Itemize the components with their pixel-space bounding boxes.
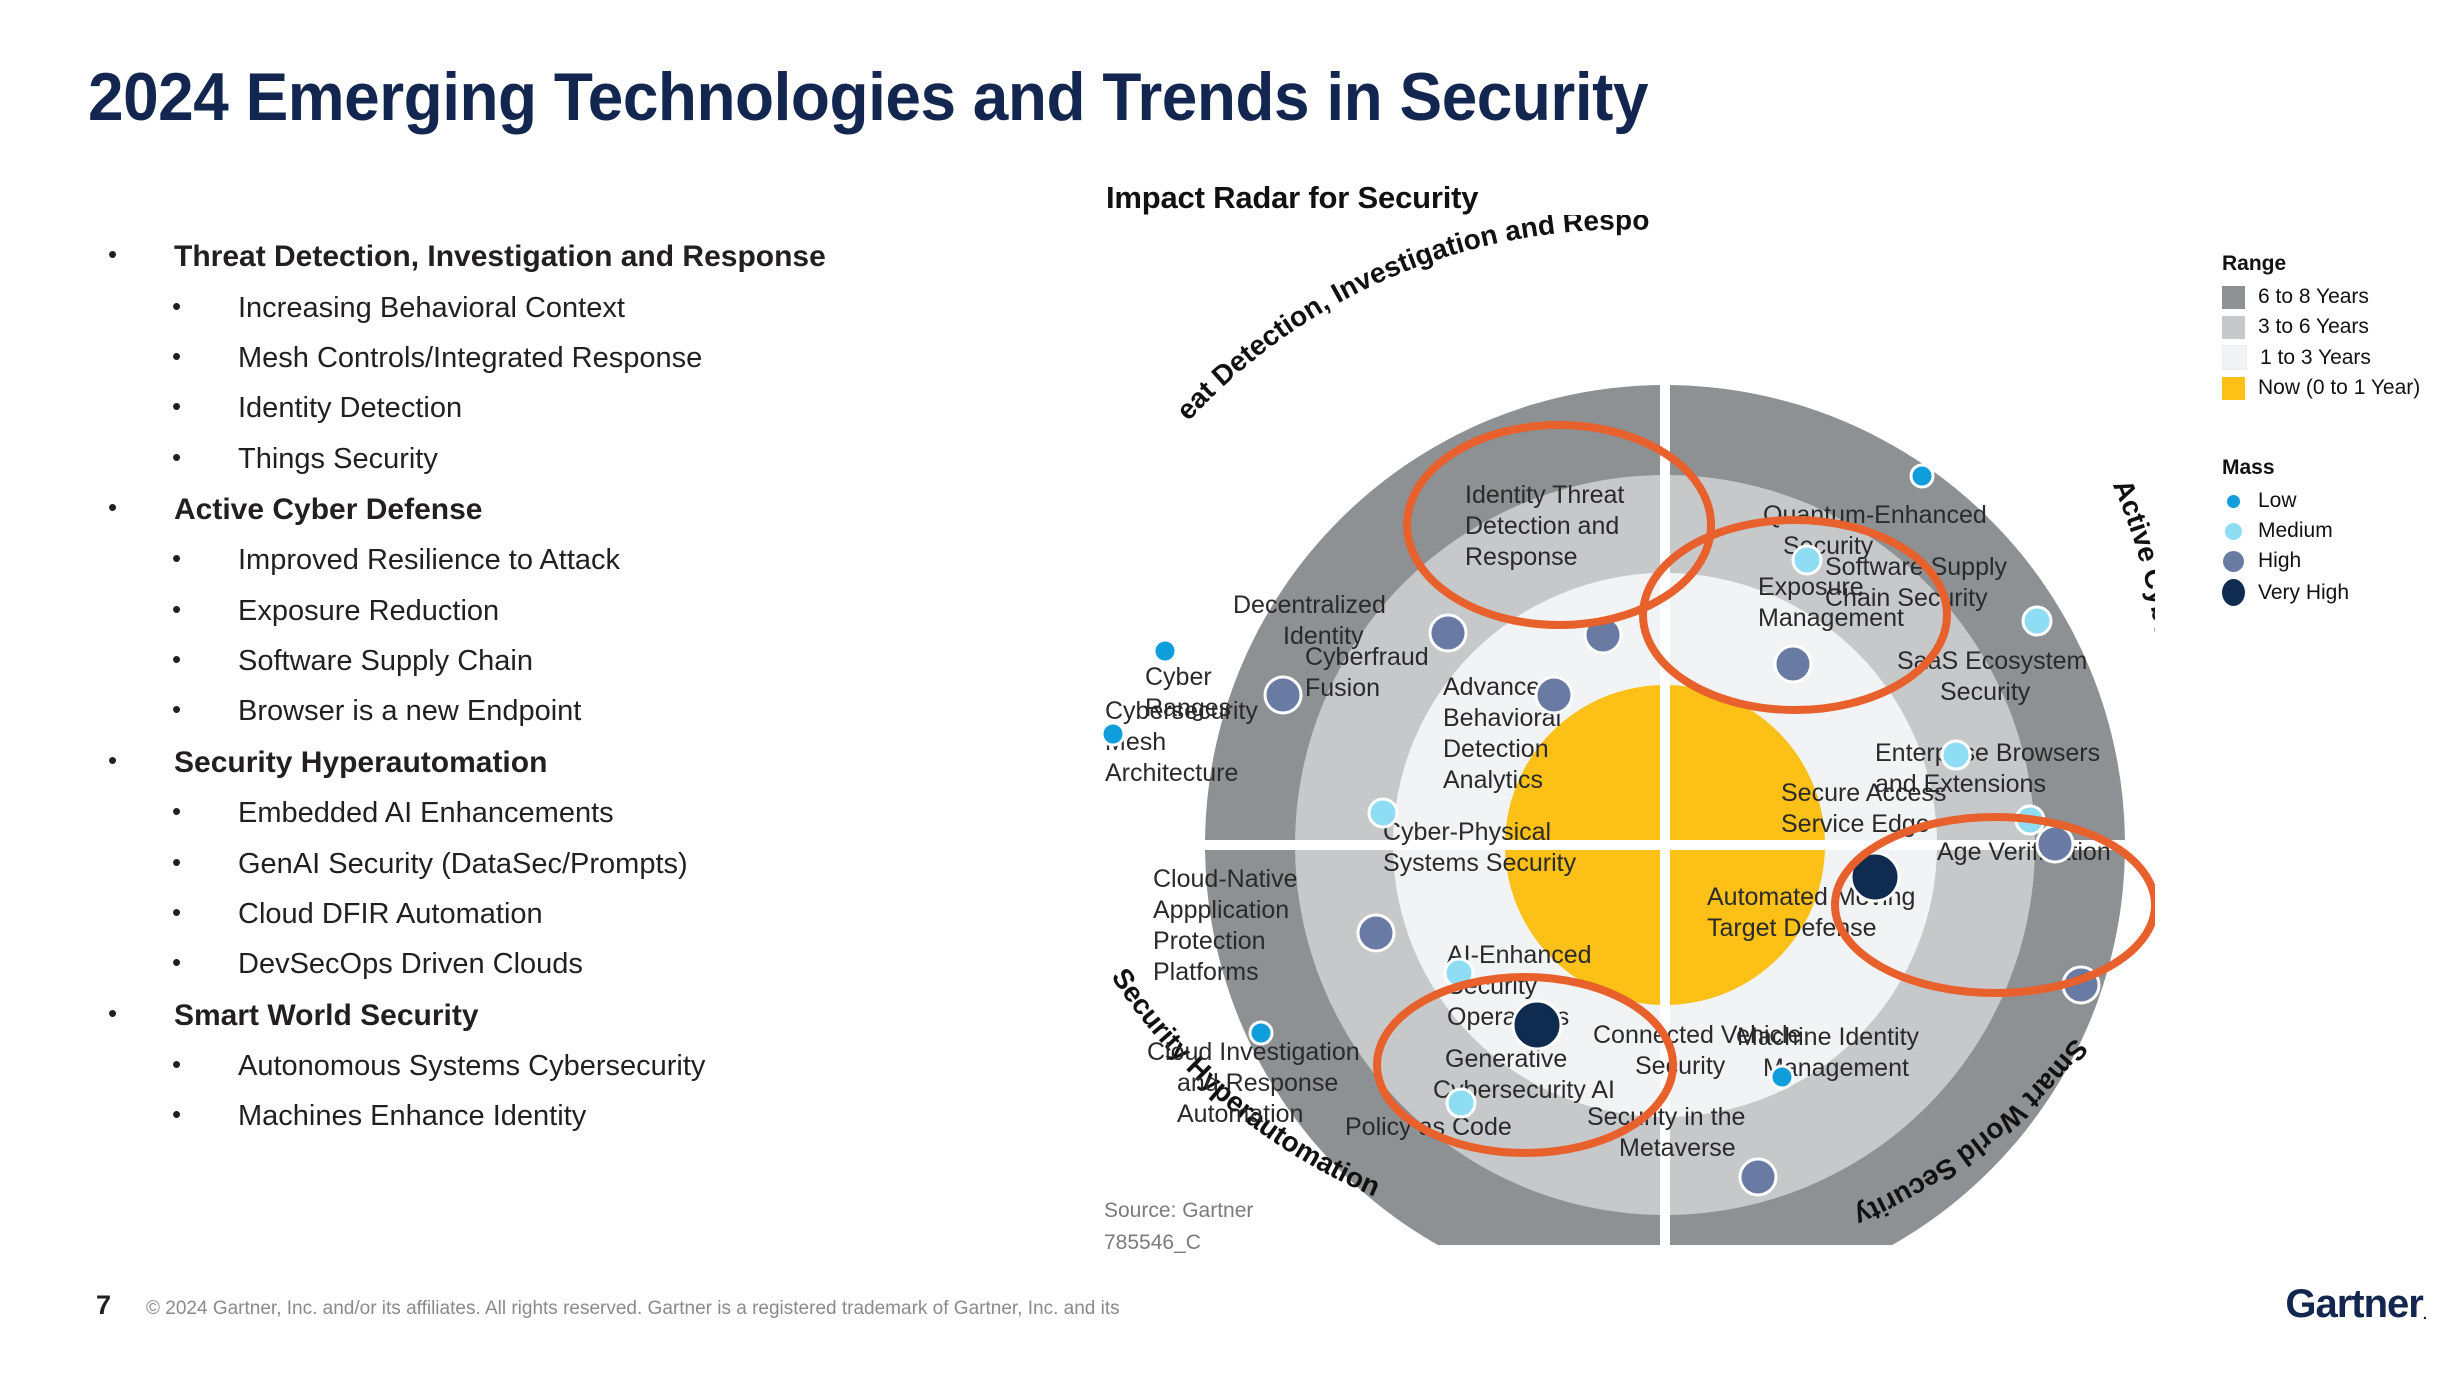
legend-mass-label: Low: [2258, 489, 2297, 513]
legend-mass-dot: [2223, 551, 2244, 572]
legend-color-swatch: [2222, 345, 2247, 370]
bullet-text: Exposure Reduction: [238, 595, 499, 628]
legend-dot-wrapper: [2222, 579, 2245, 606]
trends-bullet-list: •Threat Detection, Investigation and Res…: [100, 240, 1000, 1151]
bullet-level1: •Active Cyber Defense: [100, 493, 1000, 528]
bullet-marker-icon: •: [100, 595, 238, 624]
point-cyberfraud-fusion[interactable]: [1265, 677, 1301, 713]
source-line: Source: Gartner: [1104, 1195, 1253, 1227]
gartner-logo: Gartner.: [2285, 1282, 2426, 1327]
gartner-logo-text: Gartner: [2285, 1282, 2423, 1326]
bullet-marker-icon: •: [100, 443, 238, 472]
bullet-level2: •GenAI Security (DataSec/Prompts): [100, 848, 1000, 881]
point-connected-vehicle-security[interactable]: [1771, 1066, 1793, 1088]
bullet-text: Machines Enhance Identity: [238, 1100, 586, 1133]
bullet-text: Active Cyber Defense: [174, 493, 482, 528]
bullet-marker-icon: •: [100, 746, 174, 775]
legend-mass-item: Very High: [2222, 579, 2432, 606]
point-cybersecurity-mesh-architecture[interactable]: [1102, 723, 1124, 745]
bullet-marker-icon: •: [100, 797, 238, 826]
copyright-notice: © 2024 Gartner, Inc. and/or its affiliat…: [146, 1298, 1120, 1320]
point-decentralized-identity[interactable]: [1430, 615, 1466, 651]
legend-color-swatch: [2222, 377, 2245, 400]
doc-id-line: 785546_C: [1104, 1227, 1253, 1259]
source-block: Source: Gartner 785546_C: [1104, 1195, 1253, 1258]
legend-mass-item: Medium: [2222, 519, 2432, 543]
bullet-level2: •Exposure Reduction: [100, 595, 1000, 628]
legend-dot-wrapper: [2222, 495, 2245, 508]
quadrant-label-threat-detection: Threat Detection, Investigation and Resp…: [1035, 215, 1650, 426]
legend-mass-item: Low: [2222, 489, 2432, 513]
point-saas-ecosystem-security[interactable]: [2023, 607, 2051, 635]
legend-dot-wrapper: [2222, 551, 2245, 572]
bullet-marker-icon: •: [100, 1050, 238, 1079]
bullet-text: Threat Detection, Investigation and Resp…: [174, 240, 826, 275]
bullet-level2: •Machines Enhance Identity: [100, 1100, 1000, 1133]
bullet-marker-icon: •: [100, 695, 238, 724]
legend-dot-wrapper: [2222, 523, 2245, 540]
legend-mass-label: Medium: [2258, 519, 2333, 543]
bullet-text: Embedded AI Enhancements: [238, 797, 614, 830]
page-title: 2024 Emerging Technologies and Trends in…: [88, 58, 1648, 136]
point-enterprise-browsers-and-extensions[interactable]: [1942, 741, 1970, 769]
bullet-marker-icon: •: [100, 948, 238, 977]
bullet-marker-icon: •: [100, 898, 238, 927]
bullet-text: Smart World Security: [174, 999, 479, 1034]
legend-mass-label: High: [2258, 549, 2301, 573]
bullet-level2: •Autonomous Systems Cybersecurity: [100, 1050, 1000, 1083]
bullet-marker-icon: •: [100, 544, 238, 573]
point-advanced-behavioral-detection-analytics[interactable]: [1536, 677, 1572, 713]
bullet-text: Security Hyperautomation: [174, 746, 547, 781]
point-generative-cybersecurity-ai[interactable]: [1513, 1001, 1561, 1049]
legend-range-item: Now (0 to 1 Year): [2222, 376, 2432, 400]
legend-mass-dot: [2222, 579, 2245, 606]
bullet-marker-icon: •: [100, 342, 238, 371]
point-policy-as-code[interactable]: [1447, 1089, 1475, 1117]
legend-range-label: Now (0 to 1 Year): [2258, 376, 2420, 400]
bullet-level2: •Identity Detection: [100, 392, 1000, 425]
bullet-level2: •Mesh Controls/Integrated Response: [100, 342, 1000, 375]
bullet-marker-icon: •: [100, 645, 238, 674]
point-cloud-native-application-protection-platforms[interactable]: [1358, 915, 1394, 951]
legend-range-label: 6 to 8 Years: [2258, 285, 2369, 309]
bullet-level1: •Smart World Security: [100, 999, 1000, 1034]
bullet-text: Improved Resilience to Attack: [238, 544, 620, 577]
bullet-level1: •Security Hyperautomation: [100, 746, 1000, 781]
bullet-text: Cloud DFIR Automation: [238, 898, 543, 931]
radar-chart-svg: Threat Detection, Investigation and Resp…: [1035, 215, 2155, 1245]
bullet-marker-icon: •: [100, 848, 238, 877]
bullet-level1: •Threat Detection, Investigation and Res…: [100, 240, 1000, 275]
legend-color-swatch: [2222, 286, 2245, 309]
bullet-marker-icon: •: [100, 1100, 238, 1129]
point-cyber-physical-systems-security[interactable]: [1369, 799, 1397, 827]
legend-mass-dot: [2225, 523, 2242, 540]
bullet-text: Increasing Behavioral Context: [238, 292, 625, 325]
bullet-text: Identity Detection: [238, 392, 462, 425]
legend-mass-group: Mass LowMediumHighVery High: [2222, 456, 2432, 606]
point-security-in-the-metaverse[interactable]: [1740, 1159, 1776, 1195]
bullet-level2: •Improved Resilience to Attack: [100, 544, 1000, 577]
legend-color-swatch: [2222, 316, 2245, 339]
label-policy-as-code: Policy as Code: [1345, 1113, 1512, 1141]
legend-range-label: 1 to 3 Years: [2260, 346, 2371, 370]
legend-mass-dot: [2227, 495, 2240, 508]
bullet-level2: •Browser is a new Endpoint: [100, 695, 1000, 728]
bullet-text: Browser is a new Endpoint: [238, 695, 581, 728]
legend-range-item: 3 to 6 Years: [2222, 315, 2432, 339]
quadrant-label-active-cyber-defense: Active Cyber Defense: [2107, 475, 2155, 768]
footer: 7 © 2024 Gartner, Inc. and/or its affili…: [0, 1290, 2454, 1378]
legend: Range 6 to 8 Years3 to 6 Years1 to 3 Yea…: [2222, 252, 2432, 612]
bullet-marker-icon: •: [100, 999, 174, 1028]
legend-mass-item: High: [2222, 549, 2432, 573]
point-cloud-investigation-and-response-automation[interactable]: [1250, 1022, 1272, 1044]
legend-range-item: 1 to 3 Years: [2222, 345, 2432, 370]
bullet-text: Things Security: [238, 443, 438, 476]
bullet-level2: •Embedded AI Enhancements: [100, 797, 1000, 830]
bullet-marker-icon: •: [100, 392, 238, 421]
legend-mass-label: Very High: [2258, 581, 2349, 605]
bullet-marker-icon: •: [100, 240, 174, 269]
impact-radar-figure: Impact Radar for Security: [1100, 170, 2100, 1250]
point-cyber-ranges[interactable]: [1154, 640, 1176, 662]
point-software-supply-chain-security[interactable]: [1793, 546, 1821, 574]
legend-range-heading: Range: [2222, 252, 2432, 276]
bullet-level2: •Increasing Behavioral Context: [100, 292, 1000, 325]
bullet-text: Software Supply Chain: [238, 645, 533, 678]
bullet-marker-icon: •: [100, 493, 174, 522]
bullet-level2: •DevSecOps Driven Clouds: [100, 948, 1000, 981]
page-number: 7: [96, 1290, 111, 1321]
label-age-verification: Age Verification: [1937, 838, 2111, 866]
legend-range-item: 6 to 8 Years: [2222, 285, 2432, 309]
point-automated-moving-target-defense[interactable]: [2037, 826, 2073, 862]
bullet-level2: •Software Supply Chain: [100, 645, 1000, 678]
legend-range-group: Range 6 to 8 Years3 to 6 Years1 to 3 Yea…: [2222, 252, 2432, 400]
point-exposure-management[interactable]: [1775, 646, 1811, 682]
bullet-text: Mesh Controls/Integrated Response: [238, 342, 702, 375]
bullet-level2: •Things Security: [100, 443, 1000, 476]
bullet-text: Autonomous Systems Cybersecurity: [238, 1050, 705, 1083]
point-quantum-enhanced-security[interactable]: [1911, 465, 1933, 487]
radar-chart-title: Impact Radar for Security: [1106, 180, 1478, 216]
legend-range-label: 3 to 6 Years: [2258, 315, 2369, 339]
bullet-text: GenAI Security (DataSec/Prompts): [238, 848, 688, 881]
bullet-level2: •Cloud DFIR Automation: [100, 898, 1000, 931]
bullet-marker-icon: •: [100, 292, 238, 321]
bullet-text: DevSecOps Driven Clouds: [238, 948, 583, 981]
legend-mass-heading: Mass: [2222, 456, 2432, 480]
